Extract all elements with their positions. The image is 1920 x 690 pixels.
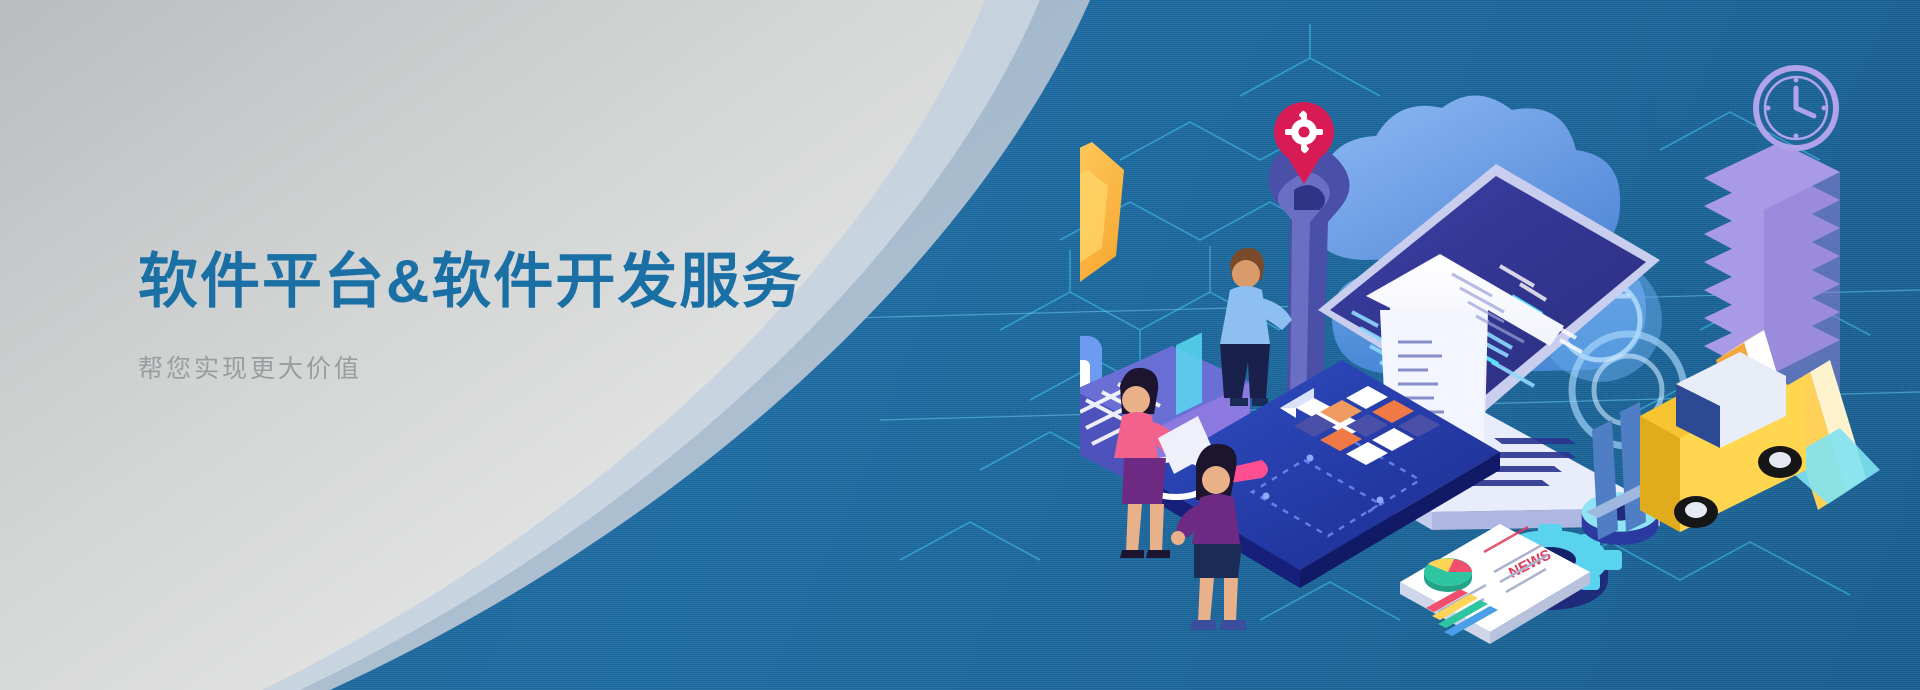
hero-illustration: NEWS (1080, 60, 1920, 680)
page-subtitle: 帮您实现更大价值 (138, 349, 898, 385)
clock-icon (1756, 68, 1836, 148)
person-developer (1220, 248, 1292, 406)
shield-icon (1080, 142, 1124, 292)
page-title: 软件平台&软件开发服务 (138, 250, 898, 313)
hero-banner: 软件平台&软件开发服务 帮您实现更大价值 (0, 0, 1920, 690)
hero-copy: 软件平台&软件开发服务 帮您实现更大价值 (138, 250, 898, 385)
